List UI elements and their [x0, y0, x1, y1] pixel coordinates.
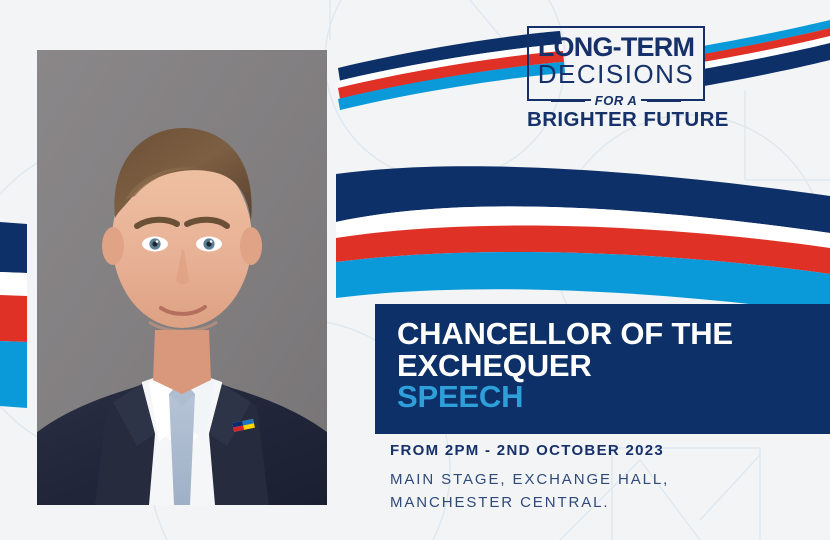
logo-line-3: FOR A	[591, 93, 641, 108]
event-venue-line-1: MAIN STAGE, EXCHANGE HALL,	[390, 469, 669, 492]
logo-line-4: BRIGHTER FUTURE	[527, 110, 705, 131]
logo-line-2: DECISIONS	[537, 61, 695, 88]
event-poster: LONG-TERM DECISIONS FOR A BRIGHTER FUTUR…	[0, 0, 830, 540]
event-title-accent: SPEECH	[397, 381, 830, 413]
event-title-line-1: CHANCELLOR OF THE	[397, 318, 830, 350]
logo-rule-left	[551, 100, 585, 102]
event-title-line-2: EXCHEQUER	[397, 350, 830, 382]
logo-for-a-row: FOR A	[529, 93, 703, 108]
logo-rule-right	[647, 100, 681, 102]
event-venue-line-2: MANCHESTER CENTRAL.	[390, 492, 669, 515]
event-details: FROM 2PM - 2ND OCTOBER 2023 MAIN STAGE, …	[390, 442, 669, 514]
portrait-illustration	[37, 50, 327, 505]
middle-ribbon	[336, 166, 830, 314]
logo-line-1: LONG-TERM	[537, 34, 695, 61]
event-title-box: CHANCELLOR OF THE EXCHEQUER SPEECH	[375, 304, 830, 434]
event-time-date: FROM 2PM - 2ND OCTOBER 2023	[390, 442, 669, 460]
left-edge-ribbon	[0, 222, 27, 408]
long-term-decisions-logo: LONG-TERM DECISIONS FOR A BRIGHTER FUTUR…	[527, 26, 705, 131]
chancellor-portrait-photo	[37, 50, 327, 505]
top-right-ribbon	[703, 20, 830, 86]
logo-box: LONG-TERM DECISIONS FOR A	[527, 26, 705, 101]
